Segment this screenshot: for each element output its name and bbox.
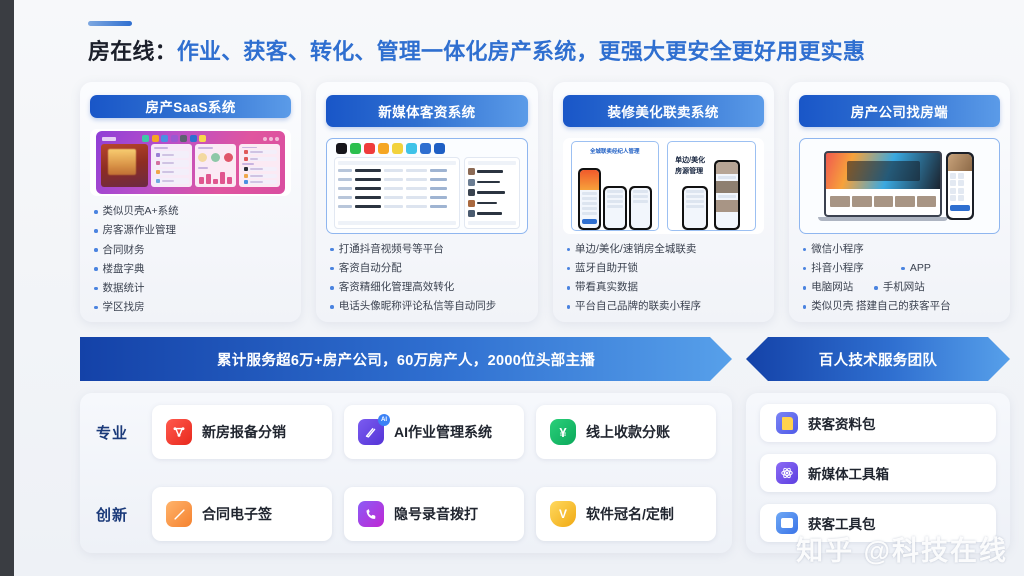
phone-mockup <box>682 186 708 230</box>
team-item-newmedia-toolbox[interactable]: 新媒体工具箱 <box>760 454 996 492</box>
mockup-logo <box>102 137 116 141</box>
mockup-col-3 <box>239 144 280 188</box>
yuan-wallet-icon: ¥ <box>550 419 576 445</box>
bullet-item: 客资自动分配 <box>330 262 419 275</box>
crm-table <box>334 157 460 229</box>
team-item-label: 新媒体工具箱 <box>808 463 889 483</box>
phone-mockup <box>578 168 602 230</box>
phone-pane-left: 全城联卖经纪人管理 <box>571 141 660 231</box>
laptop-phone-mockup <box>810 142 989 230</box>
x-app-icon <box>392 143 403 154</box>
bullet-item: 房客源作业管理 <box>94 224 183 237</box>
orange-app-icon <box>378 143 389 154</box>
yuan-glyph: ¥ <box>559 425 566 440</box>
cyan-app-icon <box>406 143 417 154</box>
card-bullets-decoration: 单边/美化/速销房全城联卖 蓝牙自助开锁 带看真实数据 平台自己品牌的联卖小程序 <box>563 243 764 314</box>
crm-mockup <box>334 143 519 229</box>
phone-mockup <box>946 152 974 220</box>
bullet-item: 类似贝壳 搭建自己的获客平台 <box>803 300 996 313</box>
team-item-customer-kit[interactable]: 获客资料包 <box>760 404 996 442</box>
product-card-newmedia[interactable]: 新媒体客资系统 <box>316 82 537 322</box>
card-bullets-saas: 类似贝壳A+系统 房客源作业管理 合同财务 楼盘字典 数据统计 学区找房 <box>90 205 291 314</box>
bullet-item: 电话头像昵称评论私信等自动同步 <box>330 300 523 313</box>
product-card-decoration[interactable]: 装修美化联卖系统 全城联卖经纪人管理 <box>553 82 774 322</box>
crm-main <box>334 157 519 229</box>
title-accent-bar <box>88 21 132 26</box>
card-title-saas: 房产SaaS系统 <box>90 95 291 118</box>
team-item-label: 获客工具包 <box>808 513 876 533</box>
folder-doc-icon <box>776 412 798 434</box>
bullet-item: 单边/美化/速销房全城联卖 <box>567 243 760 256</box>
card-title-findhouse: 房产公司找房端 <box>799 95 1000 127</box>
bullet-item: 微信小程序 <box>803 243 900 256</box>
bullet-item: 蓝牙自助开锁 <box>567 262 656 275</box>
phone-mockup <box>629 186 653 230</box>
team-item-acquisition-toolkit[interactable]: 获客工具包 <box>760 504 996 542</box>
product-card-saas[interactable]: 房产SaaS系统 <box>80 82 301 322</box>
mockup-col-2 <box>195 144 236 188</box>
bullet-item: 平台自己品牌的联卖小程序 <box>567 300 760 313</box>
card-title-decoration: 装修美化联卖系统 <box>563 95 764 127</box>
feature-tile-masked-call[interactable]: 隐号录音拨打 <box>344 487 524 541</box>
douyin-icon <box>336 143 347 154</box>
feature-tile-label: 新房报备分销 <box>202 422 286 442</box>
slide-page: 房在线：作业、获客、转化、管理一体化房产系统，更强大更安全更好用更实惠 房产Sa… <box>0 0 1024 576</box>
mockup-body <box>99 144 282 190</box>
mockup-col-1 <box>151 144 192 188</box>
phone-mockup <box>714 160 740 230</box>
team-panel: 获客资料包 新媒体工具箱 <box>746 393 1010 553</box>
laptop-mockup <box>824 151 942 221</box>
bullet-item: 类似贝壳A+系统 <box>94 205 198 218</box>
card-title-newmedia: 新媒体客资系统 <box>326 95 527 127</box>
pen-sign-icon <box>166 501 192 527</box>
shield-v-icon: V <box>550 501 576 527</box>
feature-tile-ai-work-system[interactable]: AI AI作业管理系统 <box>344 405 524 459</box>
crm-contact-list <box>464 157 520 229</box>
card-screenshot-findhouse <box>799 138 1000 234</box>
card-screenshot-saas <box>90 129 291 197</box>
card-screenshot-newmedia <box>326 138 527 234</box>
card-screenshot-decoration: 全城联卖经纪人管理 单边/美化 房源管 <box>563 138 764 234</box>
left-edge-strip <box>0 0 14 576</box>
page-title: 房在线：作业、获客、转化、管理一体化房产系统，更强大更安全更好用更实惠 <box>88 34 865 66</box>
feature-tile-new-house-distribution[interactable]: 新房报备分销 <box>152 405 332 459</box>
social-app-icon-row <box>334 143 519 154</box>
bullet-item: 数据统计 <box>94 282 198 295</box>
card-bullets-newmedia: 打通抖音视频号等平台 客资自动分配 客资精细化管理高效转化 电话头像昵称评论私信… <box>326 243 527 314</box>
blue-app-icon <box>420 143 431 154</box>
product-card-list: 房产SaaS系统 <box>80 82 1010 322</box>
feature-row-label: 专业 <box>96 422 140 443</box>
bullet-item: 带看真实数据 <box>567 281 671 294</box>
features-panel: 专业 新房报备分销 <box>80 393 732 553</box>
feature-tile-label: 合同电子签 <box>202 504 272 524</box>
dashboard-mockup <box>96 131 285 195</box>
mockup-poster <box>101 144 148 188</box>
ai-badge: AI <box>378 414 390 426</box>
page-title-tagline: 作业、获客、转化、管理一体化房产系统，更强大更安全更好用更实惠 <box>177 39 865 64</box>
share-network-icon <box>166 419 192 445</box>
bullet-item: 合同财务 <box>94 244 198 257</box>
ai-pen-icon: AI <box>358 419 384 445</box>
phone-mockup-group: 全城联卖经纪人管理 单边/美化 房源管 <box>571 141 756 231</box>
bullet-item: 手机网站 <box>874 281 938 294</box>
slide-stage: 房在线：作业、获客、转化、管理一体化房产系统，更强大更安全更好用更实惠 房产Sa… <box>14 0 1024 576</box>
phone-call-icon <box>358 501 384 527</box>
team-banner: 百人技术服务团队 <box>746 337 1010 381</box>
bullet-item: 学区找房 <box>94 301 183 314</box>
atom-icon <box>776 462 798 484</box>
phone-mockup <box>603 186 627 230</box>
product-card-findhouse[interactable]: 房产公司找房端 微信小程序 抖音小程序 APP <box>789 82 1010 322</box>
bullet-item: 抖音小程序 <box>803 262 900 275</box>
red-app-icon <box>364 143 375 154</box>
bullet-item: 楼盘字典 <box>94 263 183 276</box>
bullet-item: 打通抖音视频号等平台 <box>330 243 434 256</box>
card-bullets-findhouse: 微信小程序 抖音小程序 APP 电脑网站 手机网站 类似贝壳 搭建自己的获客平台 <box>799 243 1000 314</box>
wechat-icon <box>350 143 361 154</box>
feature-tile-label: 线上收款分账 <box>586 422 670 442</box>
bullet-item: 客资精细化管理高效转化 <box>330 281 523 294</box>
feature-tile-e-contract[interactable]: 合同电子签 <box>152 487 332 541</box>
mockup-toolbar <box>99 134 282 144</box>
team-item-label: 获客资料包 <box>808 413 876 433</box>
page-title-brand: 房在线： <box>88 39 177 64</box>
mockup-window-dots <box>263 137 279 141</box>
bullet-item: 电脑网站 <box>803 281 873 294</box>
v-glyph: V <box>559 507 567 521</box>
indigo-app-icon <box>434 143 445 154</box>
feature-row-label: 创新 <box>96 504 140 525</box>
feature-tile-label: 隐号录音拨打 <box>394 504 478 524</box>
toolbox-icon <box>776 512 798 534</box>
bottom-section: 专业 新房报备分销 <box>80 393 1010 553</box>
feature-tile-label: 软件冠名/定制 <box>586 504 674 524</box>
feature-tile-label: AI作业管理系统 <box>394 422 492 442</box>
feature-row-professional: 专业 新房报备分销 <box>96 405 716 459</box>
feature-tile-online-payment[interactable]: ¥ 线上收款分账 <box>536 405 716 459</box>
mockup-icon-row <box>142 135 206 142</box>
phone-pane-caption: 单边/美化 房源管理 <box>675 156 705 177</box>
bullet-item: APP <box>901 262 959 275</box>
banner-row: 累计服务超6万+房产公司，60万房产人，2000位头部主播 百人技术服务团队 <box>80 337 1010 381</box>
phone-pane-right: 单边/美化 房源管理 <box>667 141 756 231</box>
stats-banner: 累计服务超6万+房产公司，60万房产人，2000位头部主播 <box>80 337 732 381</box>
feature-tile-software-branding[interactable]: V 软件冠名/定制 <box>536 487 716 541</box>
phone-pane-caption: 全城联卖经纪人管理 <box>572 148 659 156</box>
feature-row-innovation: 创新 合同电子签 隐号录音拨打 <box>96 487 716 541</box>
